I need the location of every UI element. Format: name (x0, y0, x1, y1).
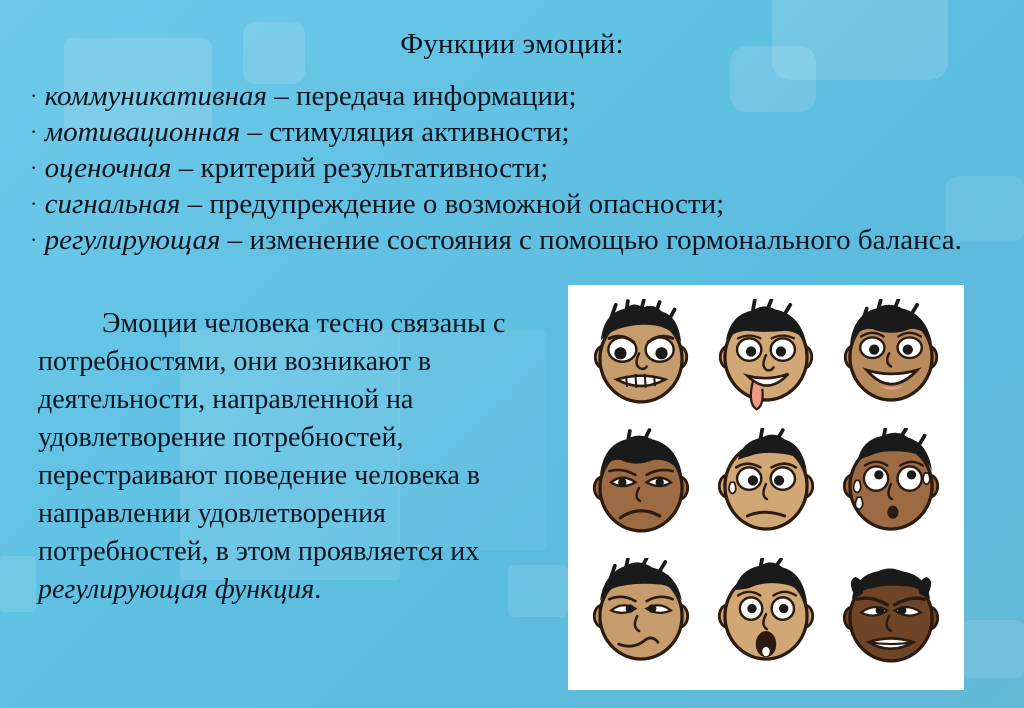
paragraph-text-part1: Эмоции человека тесно связаны с потребно… (38, 308, 505, 567)
bullet-term: оценочная (45, 152, 172, 184)
bullet-dash: – (267, 80, 296, 112)
sad-tired-face (585, 428, 697, 546)
bullet-marker: · (30, 83, 37, 108)
paragraph-text-part2: . (314, 574, 321, 605)
body-paragraph: Эмоции человека тесно связаны с потребно… (38, 305, 538, 609)
faces-grid (568, 285, 964, 690)
decorative-rounded-rect (0, 556, 36, 612)
bullet-marker: · (30, 155, 37, 180)
face-cell-scared-sweating (829, 423, 954, 553)
bullet-marker: · (30, 191, 37, 216)
bullet-item-regulating: · регулирующая – изменение состояния с п… (30, 222, 980, 258)
bullet-text: передача информации; (296, 80, 577, 112)
slide-title: Функции эмоций: (0, 28, 1024, 61)
scared-sweating-face (835, 428, 947, 546)
bullet-marker: · (30, 119, 37, 144)
face-cell-laughing (829, 293, 954, 423)
decorative-rounded-rect (962, 620, 1024, 678)
bullet-item-motivational: · мотивационная – стимуляция активности; (30, 114, 980, 150)
bullet-term: коммуникативная (45, 80, 267, 112)
worried-sweating-face (710, 428, 822, 546)
bullet-dash: – (240, 116, 269, 148)
bullet-dash: – (172, 152, 201, 184)
bullet-text: изменение состояния с помощью гормональн… (250, 224, 962, 256)
bullet-item-communicative: · коммуникативная – передача информации; (30, 78, 980, 114)
face-cell-angry-dark (829, 552, 954, 682)
shocked-surprised-face (710, 558, 822, 676)
bullet-item-evaluative: · оценочная – критерий результативности; (30, 150, 980, 186)
bullet-dash: – (221, 224, 250, 256)
angry-dark-face (835, 558, 947, 676)
face-cell-worried-sweating (703, 423, 828, 553)
face-cell-silly-tongue-out (703, 293, 828, 423)
bullet-text: предупреждение о возможной опасности; (209, 188, 724, 220)
bullet-term: сигнальная (45, 188, 181, 220)
smirking-sly-face (585, 558, 697, 676)
face-cell-sad-tired (578, 423, 703, 553)
silly-tongue-out-face (710, 299, 822, 417)
face-cell-angry-gritted-teeth (578, 293, 703, 423)
angry-gritted-teeth-face (585, 299, 697, 417)
face-cell-shocked-surprised (703, 552, 828, 682)
bullet-marker: · (30, 227, 37, 252)
bullet-text: стимуляция активности; (269, 116, 569, 148)
bullet-item-signal: · сигнальная – предупреждение о возможно… (30, 186, 980, 222)
bullet-dash: – (180, 188, 209, 220)
bullet-term: мотивационная (45, 116, 241, 148)
functions-bullet-list: · коммуникативная – передача информации;… (30, 78, 980, 258)
paragraph-emphasis: регулирующая функция (38, 574, 314, 605)
presentation-slide: Функции эмоций: · коммуникативная – пере… (0, 0, 1024, 708)
bullet-text: критерий результативности; (201, 152, 549, 184)
bullet-term: регулирующая (45, 224, 221, 256)
emotions-faces-image (568, 285, 964, 690)
face-cell-smirking-sly (578, 552, 703, 682)
laughing-happy-face (835, 299, 947, 417)
